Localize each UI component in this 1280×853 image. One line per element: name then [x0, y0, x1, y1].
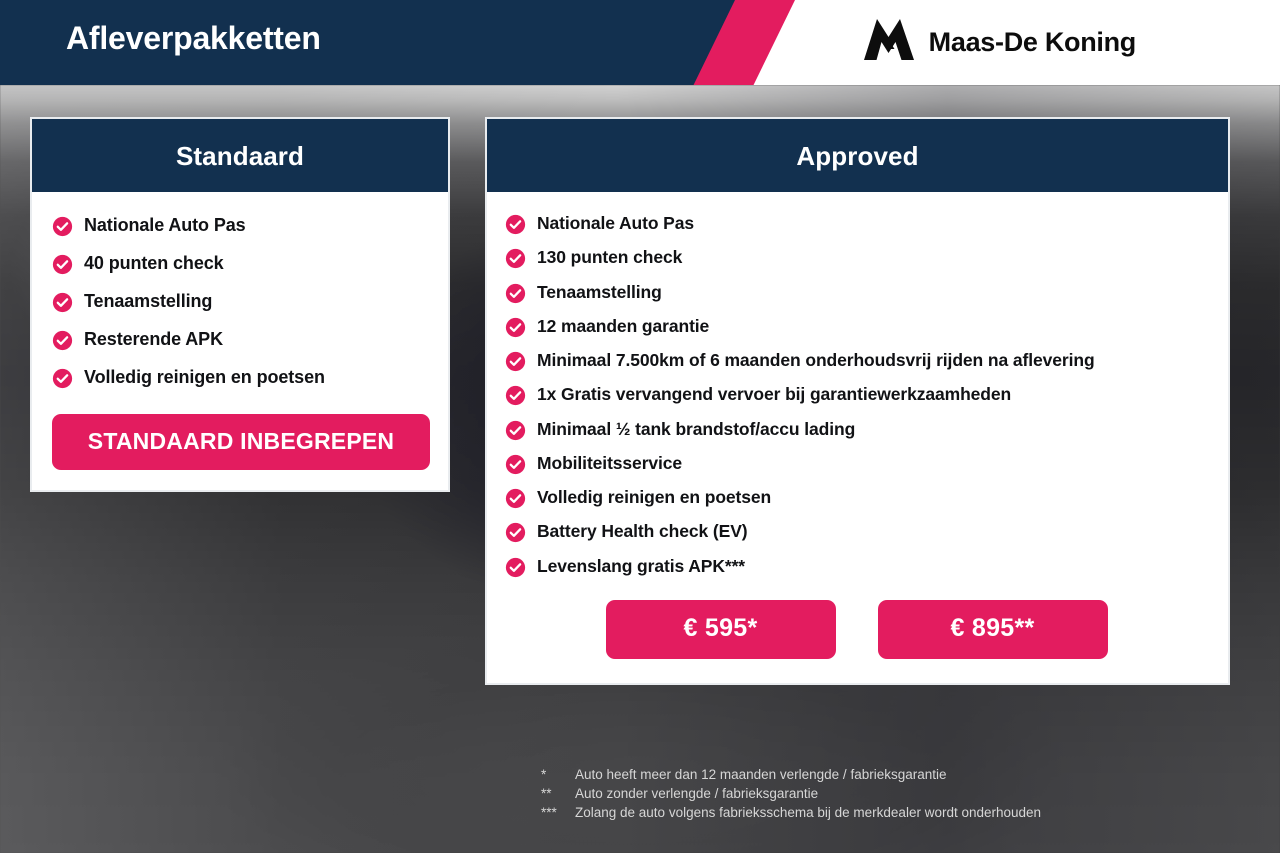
- list-item: Mobiliteitsservice: [505, 452, 1208, 475]
- brand-name: Maas-De Koning: [929, 27, 1136, 58]
- check-circle-icon: [505, 420, 526, 441]
- check-circle-icon: [505, 283, 526, 304]
- list-item: 130 punten check: [505, 246, 1208, 269]
- package-card-approved: Approved Nationale Auto Pas: [485, 117, 1230, 685]
- footnote-text: Auto zonder verlengde / fabrieksgarantie: [575, 784, 818, 803]
- feature-label: Levenslang gratis APK***: [537, 555, 745, 578]
- feature-label: Nationale Auto Pas: [537, 212, 694, 235]
- list-item: Volledig reinigen en poetsen: [52, 366, 430, 390]
- list-item: Resterende APK: [52, 328, 430, 352]
- check-circle-icon: [52, 254, 73, 275]
- check-circle-icon: [505, 317, 526, 338]
- feature-label: 1x Gratis vervangend vervoer bij garanti…: [537, 383, 1011, 406]
- price-button-895[interactable]: € 895**: [878, 600, 1108, 659]
- list-item: 1x Gratis vervangend vervoer bij garanti…: [505, 383, 1208, 406]
- feature-label: Volledig reinigen en poetsen: [537, 486, 771, 509]
- footnotes: * Auto heeft meer dan 12 maanden verleng…: [541, 765, 1041, 822]
- feature-label: Resterende APK: [84, 328, 223, 352]
- package-card-standaard: Standaard Nationale Auto Pas: [30, 117, 450, 492]
- list-item: Minimaal ½ tank brandstof/accu lading: [505, 418, 1208, 441]
- card-body-standaard: Nationale Auto Pas 40 punten check: [32, 192, 448, 490]
- footnote-triple-asterisk: *** Zolang de auto volgens fabrieksschem…: [541, 803, 1041, 822]
- feature-label: Battery Health check (EV): [537, 520, 748, 543]
- list-item: Tenaamstelling: [52, 290, 430, 314]
- check-circle-icon: [52, 330, 73, 351]
- footnote-marker: *: [541, 765, 575, 784]
- footnote-marker: **: [541, 784, 575, 803]
- page-header: Afleverpakketten Maas-De Koning: [0, 0, 1280, 85]
- check-circle-icon: [52, 292, 73, 313]
- page-title: Afleverpakketten: [66, 20, 321, 57]
- footnote-text: Auto heeft meer dan 12 maanden verlengde…: [575, 765, 947, 784]
- list-item: Minimaal 7.500km of 6 maanden onderhouds…: [505, 349, 1208, 372]
- feature-label: Volledig reinigen en poetsen: [84, 366, 325, 390]
- feature-label: 130 punten check: [537, 246, 682, 269]
- list-item: 12 maanden garantie: [505, 315, 1208, 338]
- feature-list-approved: Nationale Auto Pas 130 punten check: [505, 212, 1208, 578]
- list-item: Tenaamstelling: [505, 281, 1208, 304]
- footnote-single-asterisk: * Auto heeft meer dan 12 maanden verleng…: [541, 765, 1041, 784]
- feature-label: Nationale Auto Pas: [84, 214, 246, 238]
- price-button-595[interactable]: € 595*: [606, 600, 836, 659]
- card-title-approved: Approved: [487, 119, 1228, 192]
- brand-lockup: Maas-De Koning: [863, 18, 1136, 67]
- card-body-approved: Nationale Auto Pas 130 punten check: [487, 192, 1228, 683]
- list-item: Battery Health check (EV): [505, 520, 1208, 543]
- feature-label: Minimaal ½ tank brandstof/accu lading: [537, 418, 855, 441]
- check-circle-icon: [505, 488, 526, 509]
- feature-label: 12 maanden garantie: [537, 315, 709, 338]
- feature-label: Mobiliteitsservice: [537, 452, 682, 475]
- check-circle-icon: [52, 368, 73, 389]
- price-button-row: € 595* € 895**: [505, 600, 1208, 663]
- list-item: Levenslang gratis APK***: [505, 555, 1208, 578]
- check-circle-icon: [505, 214, 526, 235]
- check-circle-icon: [505, 248, 526, 269]
- footnote-double-asterisk: ** Auto zonder verlengde / fabrieksgaran…: [541, 784, 1041, 803]
- card-title-standaard: Standaard: [32, 119, 448, 192]
- delivery-packages-page: Afleverpakketten Maas-De Koning Standaar…: [0, 0, 1280, 853]
- check-circle-icon: [505, 454, 526, 475]
- list-item: 40 punten check: [52, 252, 430, 276]
- feature-label: Tenaamstelling: [84, 290, 212, 314]
- list-item: Nationale Auto Pas: [505, 212, 1208, 235]
- check-circle-icon: [52, 216, 73, 237]
- list-item: Nationale Auto Pas: [52, 214, 430, 238]
- standaard-included-button[interactable]: STANDAARD INBEGREPEN: [52, 414, 430, 470]
- footnote-marker: ***: [541, 803, 575, 822]
- feature-label: 40 punten check: [84, 252, 224, 276]
- feature-label: Tenaamstelling: [537, 281, 662, 304]
- feature-label: Minimaal 7.500km of 6 maanden onderhouds…: [537, 349, 1095, 372]
- check-circle-icon: [505, 557, 526, 578]
- footnote-text: Zolang de auto volgens fabrieksschema bi…: [575, 803, 1041, 822]
- list-item: Volledig reinigen en poetsen: [505, 486, 1208, 509]
- feature-list-standaard: Nationale Auto Pas 40 punten check: [52, 214, 430, 390]
- check-circle-icon: [505, 522, 526, 543]
- check-circle-icon: [505, 351, 526, 372]
- maas-de-koning-m-logo-icon: [863, 18, 915, 67]
- check-circle-icon: [505, 385, 526, 406]
